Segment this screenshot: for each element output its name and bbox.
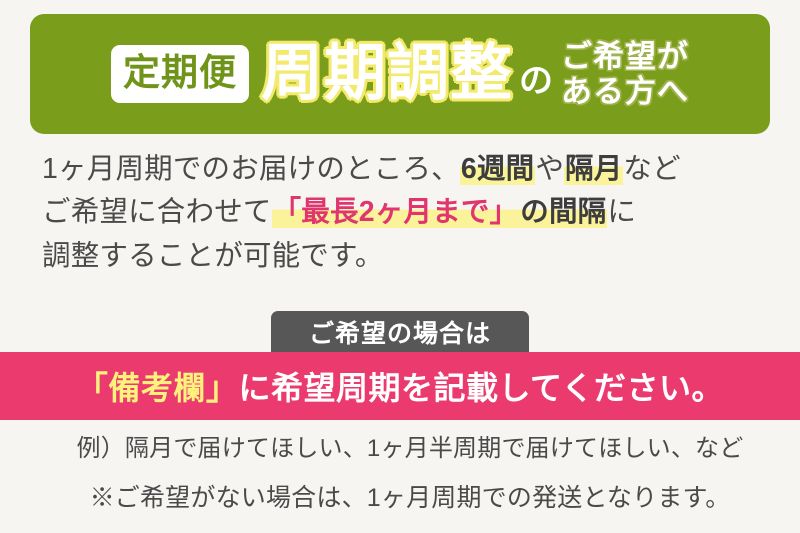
banner-subtitle: ご希望が ある方へ bbox=[561, 40, 689, 109]
request-case-tab: ご希望の場合は bbox=[271, 311, 529, 352]
instruction-text-b: を記載してください。 bbox=[401, 370, 724, 406]
example-line: 例）隔月で届けてほしい、1ヶ月半周期で届けてほしい、など bbox=[40, 428, 780, 463]
banner-speech-tail bbox=[62, 118, 88, 134]
instruction-band-text: 「備考欄」に希望周期を記載してください。 bbox=[76, 363, 724, 409]
description-highlight-every-other-month: 隔月 bbox=[564, 153, 623, 185]
instruction-band: 「備考欄」に希望周期を記載してください。 bbox=[0, 352, 800, 420]
banner-particle: の bbox=[519, 64, 553, 98]
description-line-2: ご希望に合わせて「最長2ヶ月まで」の間隔に bbox=[42, 191, 768, 234]
description-highlight-six-weeks: 6週間 bbox=[460, 153, 535, 185]
request-case-tab-label: ご希望の場合は bbox=[309, 314, 491, 350]
header-banner: 定期便 周期調整 の ご希望が ある方へ bbox=[30, 14, 770, 134]
instruction-remarks-field: 「備考欄」 bbox=[76, 370, 239, 406]
header-banner-content: 定期便 周期調整 の ご希望が ある方へ bbox=[30, 14, 770, 134]
instruction-emphasis: 希望周期 bbox=[271, 370, 401, 406]
banner-title: 周期調整 bbox=[261, 43, 513, 105]
banner-subtitle-line2: ある方へ bbox=[561, 75, 689, 110]
subscription-pill-label: 定期便 bbox=[111, 45, 249, 103]
description-line-2-part-a: ご希望に合わせて bbox=[42, 196, 272, 228]
banner-subtitle-line1: ご希望が bbox=[561, 40, 689, 75]
description-line-1: 1ヶ月周期でのお届けのところ、6週間や隔月など bbox=[42, 148, 768, 191]
promo-graphic: 定期便 周期調整 の ご希望が ある方へ 1ヶ月周期でのお届けのところ、6週間や… bbox=[0, 0, 800, 533]
instruction-text-a: に bbox=[238, 370, 271, 406]
description-highlight-max-two-months: 「最長2ヶ月まで」 bbox=[272, 196, 520, 228]
description-line-1-part-a: 1ヶ月周期でのお届けのところ、 bbox=[42, 153, 460, 185]
description-line-3: 調整することが可能です。 bbox=[42, 235, 768, 278]
description-block: 1ヶ月周期でのお届けのところ、6週間や隔月など ご希望に合わせて「最長2ヶ月まで… bbox=[42, 148, 768, 278]
description-line-1-part-c: や bbox=[535, 153, 564, 185]
note-line: ※ご希望がない場合は、1ヶ月周期での発送となります。 bbox=[40, 478, 780, 514]
description-highlight-interval: の間隔 bbox=[519, 196, 607, 228]
description-line-2-part-d: に bbox=[607, 196, 636, 228]
description-line-1-part-e: など bbox=[623, 153, 680, 185]
